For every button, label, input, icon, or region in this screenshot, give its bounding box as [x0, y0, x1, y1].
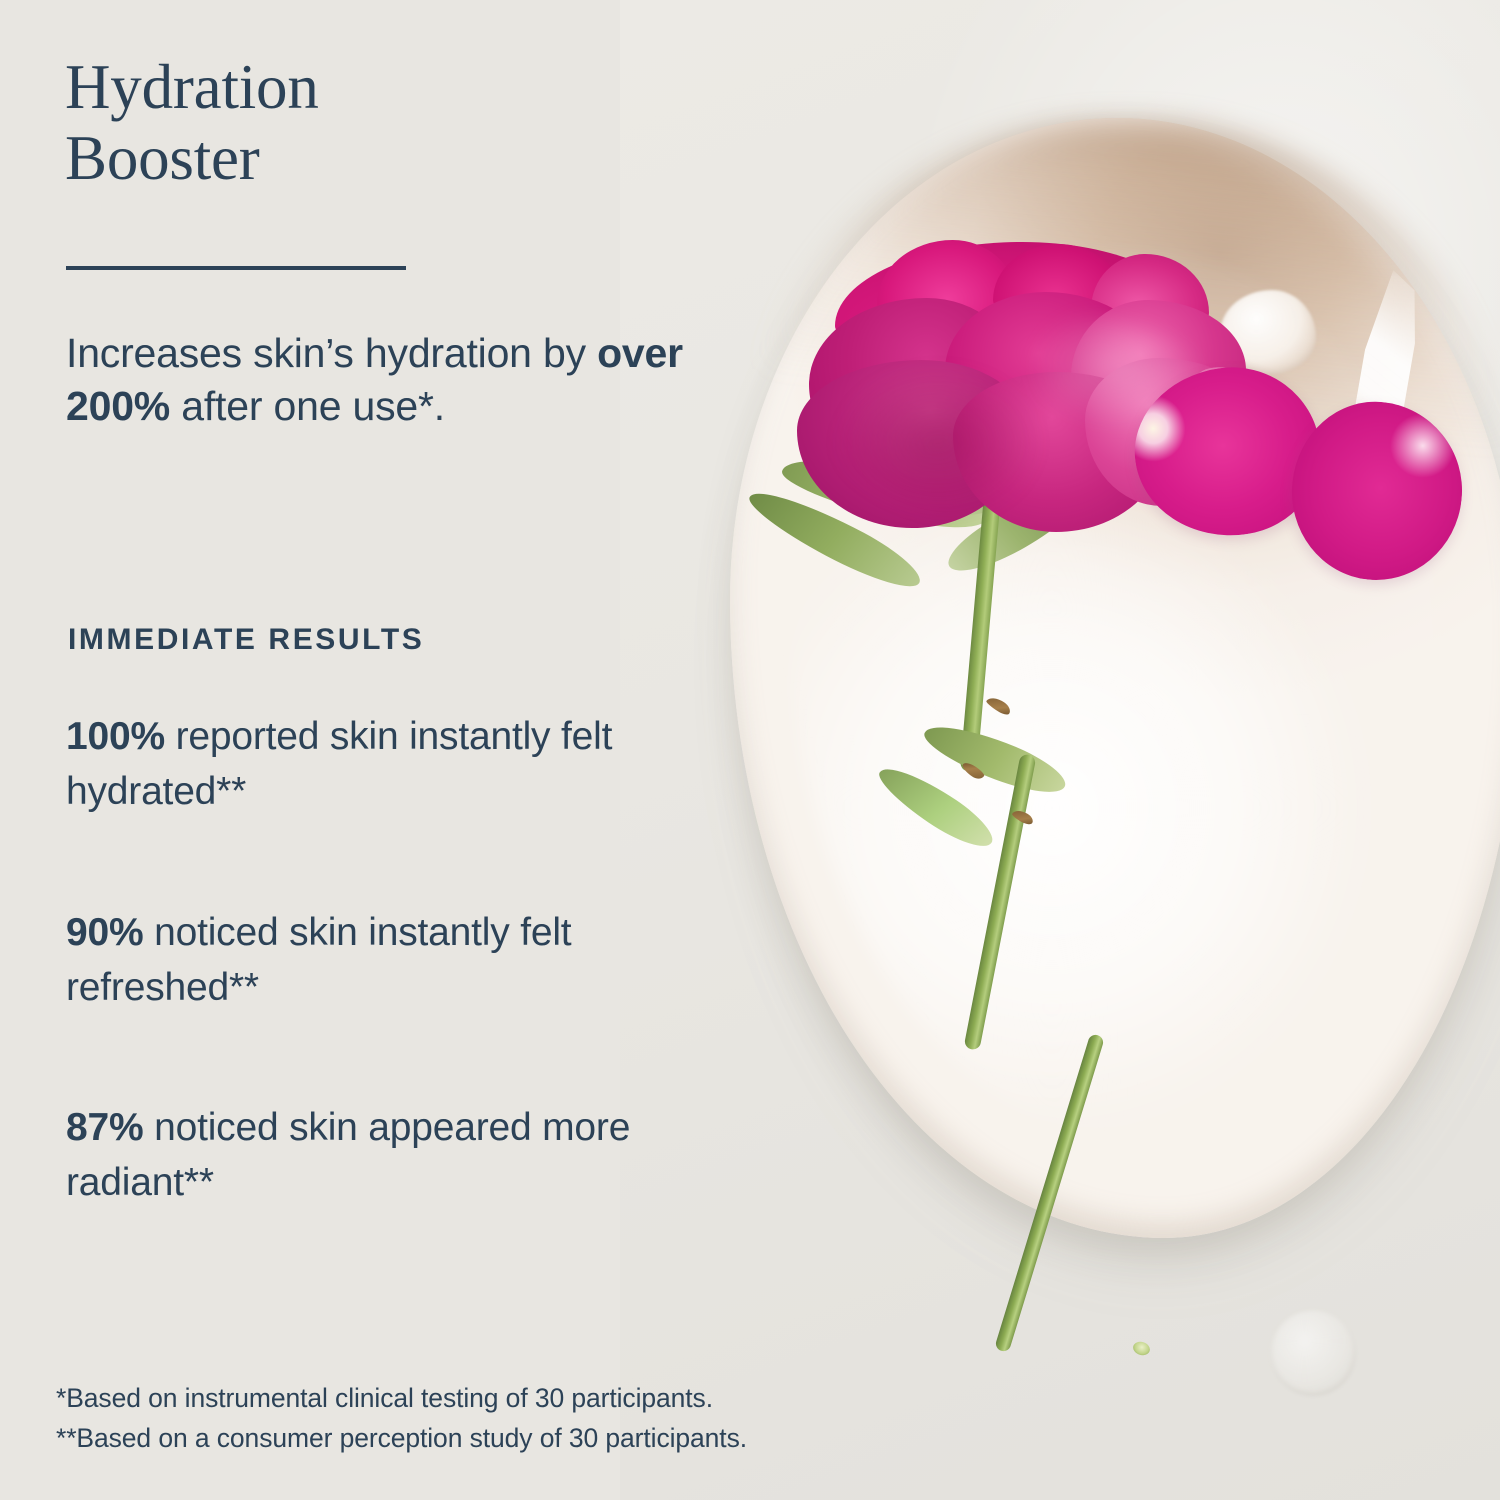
result-stat-2: 90% noticed skin instantly felt refreshe…: [66, 905, 766, 1016]
title-divider: [66, 266, 406, 270]
result-stat-3-value: 87%: [66, 1106, 143, 1149]
product-claims-infographic: Hydration Booster Increases skin’s hydra…: [0, 0, 1500, 1500]
result-stat-1-value: 100%: [66, 715, 165, 758]
primary-claim-prefix: Increases skin’s hydration by: [66, 330, 597, 376]
result-stat-2-value: 90%: [66, 911, 143, 954]
footnote-1: *Based on instrumental clinical testing …: [56, 1378, 747, 1418]
section-heading-immediate-results: IMMEDIATE RESULTS: [68, 623, 424, 657]
primary-claim-suffix: after one use*.: [170, 383, 445, 429]
result-stat-3-text: noticed skin appeared more radiant**: [66, 1106, 630, 1204]
footnote-2: **Based on a consumer perception study o…: [56, 1418, 747, 1458]
claims-text-panel: Hydration Booster Increases skin’s hydra…: [0, 0, 800, 1500]
title-line-2: Booster: [65, 123, 625, 194]
page-title: Hydration Booster: [65, 52, 625, 194]
result-stat-1: 100% reported skin instantly felt hydrat…: [66, 709, 766, 820]
footnotes: *Based on instrumental clinical testing …: [56, 1378, 747, 1459]
result-stat-3: 87% noticed skin appeared more radiant**: [66, 1100, 766, 1211]
title-line-1: Hydration: [65, 52, 625, 123]
water-droplet-icon: [1270, 1310, 1356, 1396]
primary-claim: Increases skin’s hydration by over 200% …: [66, 327, 766, 434]
